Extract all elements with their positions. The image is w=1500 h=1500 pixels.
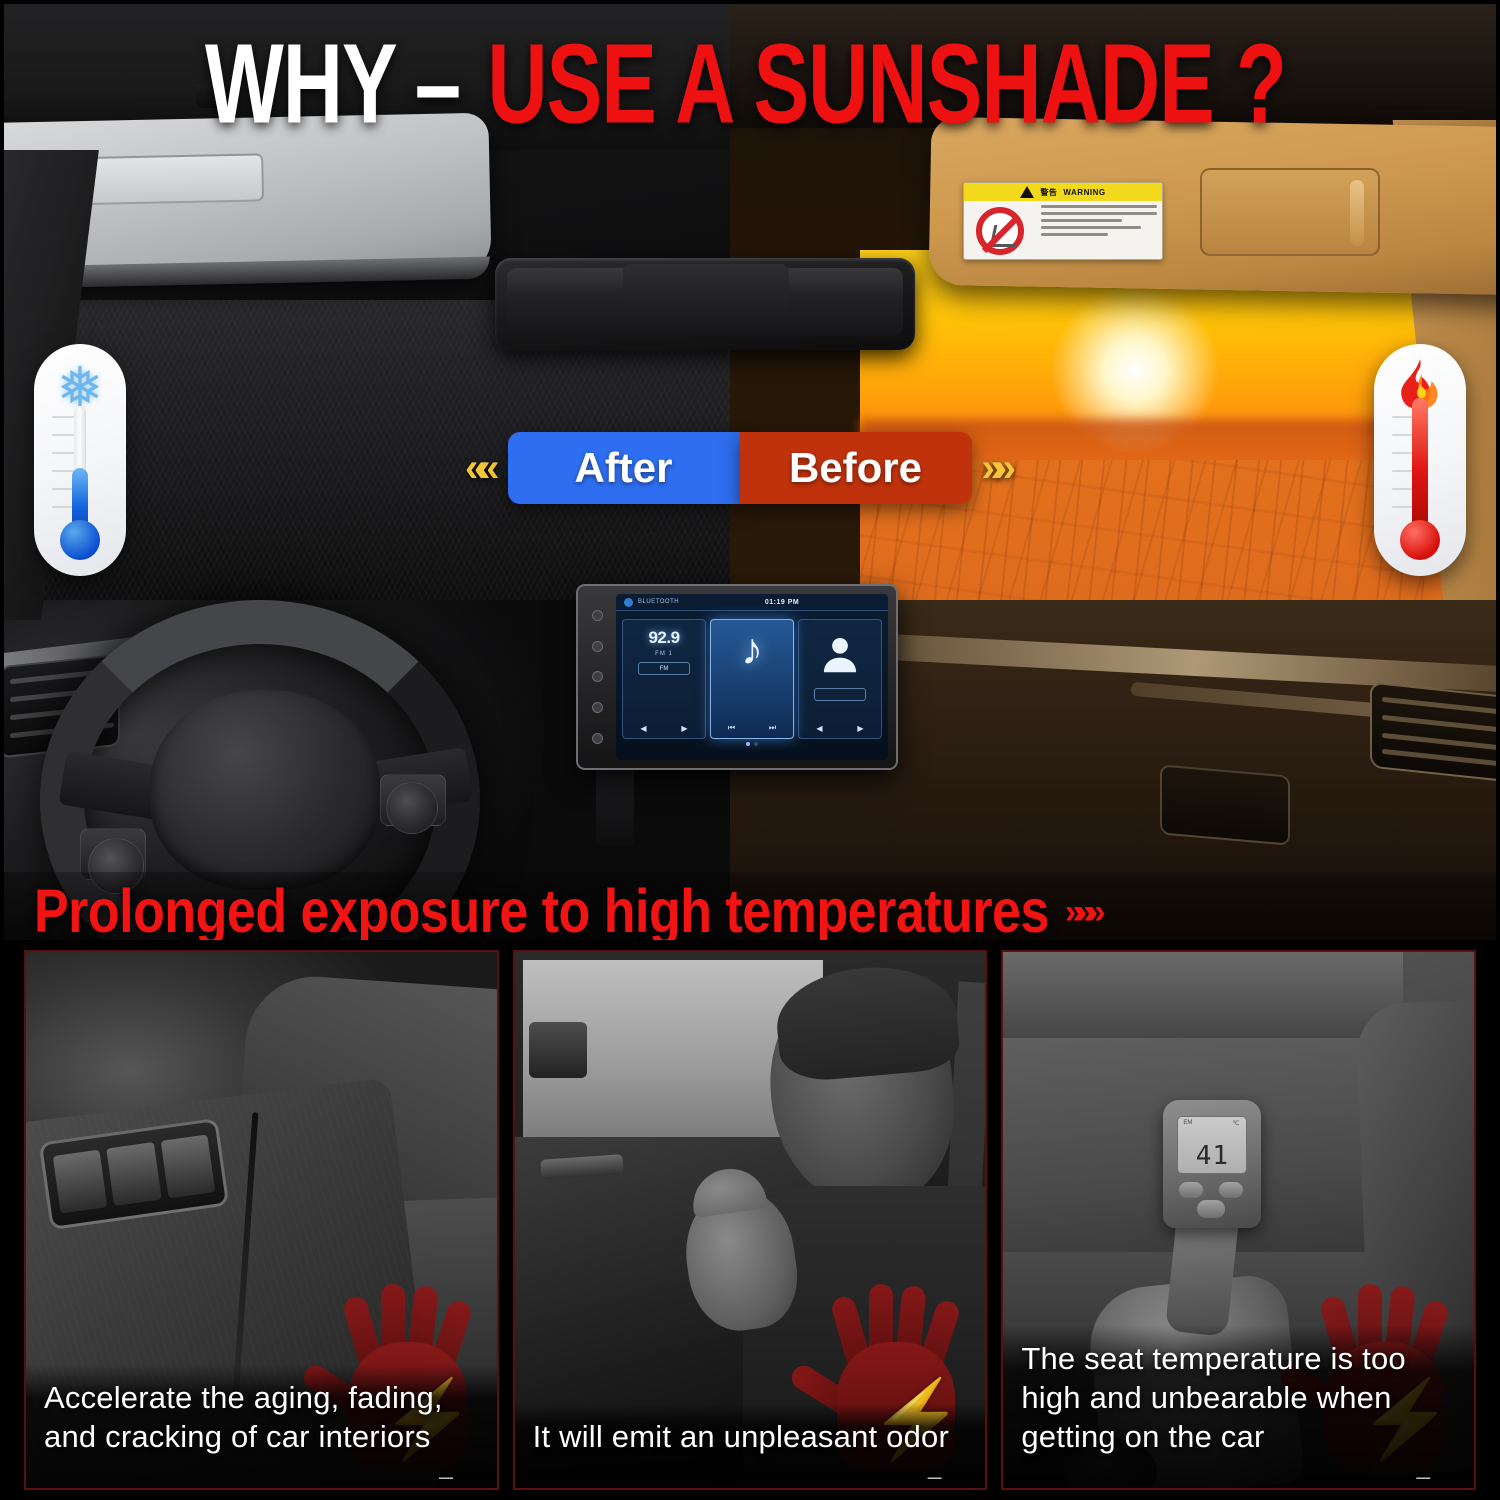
before-after-hero: 警告 WARNING (0, 0, 1500, 940)
side-button-apps[interactable] (592, 702, 603, 713)
person-icon (817, 632, 863, 683)
rearview-mirror (495, 258, 915, 350)
profile-pill[interactable] (814, 688, 866, 701)
seat-temperature-panel: EM ℃ 41 ⚡ (1001, 950, 1476, 1490)
air-vent-right (1370, 682, 1500, 785)
caption-underscore: _ (1021, 1462, 1456, 1472)
visor-warning-label: 警告 WARNING (963, 182, 1163, 260)
thermometer-display-label-right: ℃ (1233, 1120, 1240, 1127)
no-rear-facing-child-seat-icon (964, 201, 1036, 260)
profile-next-icon[interactable]: ▶ (857, 724, 863, 733)
infotainment-head-unit: BLUETOOTH 01:19 PM 92.9 FM 1 FM ◀ ▶ ♪ (576, 584, 898, 770)
radio-card[interactable]: 92.9 FM 1 FM ◀ ▶ (622, 619, 706, 739)
thermometer-fill-hot (1412, 398, 1428, 532)
before-badge[interactable]: Before (740, 432, 972, 504)
left-chevrons-icon: «« (465, 448, 500, 488)
radio-frequency: 92.9 (648, 628, 679, 648)
steering-dpad-right (386, 782, 438, 834)
before-after-divider-badges: «« After Before »» (465, 432, 1014, 504)
thermometer-bulb-hot (1400, 520, 1440, 560)
page-dot[interactable] (754, 742, 758, 746)
side-button-power[interactable] (592, 610, 603, 621)
consequence-panels: ⚡ Accelerate the aging, fading, and crac… (24, 950, 1476, 1490)
interior-aging-caption: Accelerate the aging, fading, and cracki… (44, 1378, 479, 1456)
thermometer-display: EM ℃ 41 (1177, 1116, 1247, 1174)
thermometer-button-mode[interactable] (1179, 1182, 1203, 1198)
side-button-media[interactable] (592, 671, 603, 682)
warning-label-body (964, 201, 1162, 260)
steering-wheel-airbag-hub (150, 690, 380, 890)
air-vent-center-right (1160, 764, 1290, 845)
panel-caption: The seat temperature is too high and unb… (1003, 1325, 1474, 1488)
infotainment-status-bar: BLUETOOTH 01:19 PM (616, 594, 888, 611)
infotainment-side-buttons[interactable] (584, 600, 610, 754)
cold-thermometer: ❅ (34, 344, 126, 576)
interior-aging-panel: ⚡ Accelerate the aging, fading, and crac… (24, 950, 499, 1490)
side-button-settings[interactable] (592, 733, 603, 744)
side-button-home[interactable] (592, 641, 603, 652)
infrared-thermometer: EM ℃ 41 (1163, 1100, 1261, 1228)
panel-caption: It will emit an unpleasant odor _ (515, 1403, 986, 1488)
banner-chevrons-icon: »»» (1065, 893, 1108, 932)
caption-underscore: _ (44, 1462, 479, 1472)
radio-preset-pill[interactable]: FM (638, 662, 690, 675)
thermometer-button-set[interactable] (1197, 1200, 1225, 1218)
infotainment-screen[interactable]: BLUETOOTH 01:19 PM 92.9 FM 1 FM ◀ ▶ ♪ (616, 594, 888, 760)
thermometer-bulb-cold (60, 520, 100, 560)
media-skip-forward-icon[interactable]: ⏭ (769, 723, 776, 733)
media-card[interactable]: ♪ ⏮ ⏭ (710, 619, 794, 739)
unpleasant-odor-panel: ⚡ It will emit an unpleasant odor _ (513, 950, 988, 1490)
consequences-section: ⚡ Accelerate the aging, fading, and crac… (0, 940, 1500, 1500)
prolonged-exposure-text: Prolonged exposure to high temperatures (34, 877, 1049, 940)
headliner-right (730, 0, 1500, 128)
radio-next-icon[interactable]: ▶ (681, 724, 687, 733)
caption-underscore: _ (533, 1462, 968, 1472)
infotainment-source-label: BLUETOOTH (638, 599, 679, 605)
right-chevrons-icon: »» (982, 448, 1015, 488)
prolonged-exposure-banner: Prolonged exposure to high temperatures … (0, 872, 1500, 940)
media-transport-controls[interactable]: ⏮ ⏭ (711, 723, 793, 733)
profile-arrows[interactable]: ◀ ▶ (799, 724, 881, 733)
panel-caption: Accelerate the aging, fading, and cracki… (26, 1364, 497, 1488)
warning-label-text-lines (1036, 201, 1162, 260)
infrared-thermometer-grip (1165, 1211, 1239, 1337)
thermometer-button-unit[interactable] (1219, 1182, 1243, 1198)
profile-prev-icon[interactable]: ◀ (816, 724, 822, 733)
sun-visor-pocket (1200, 168, 1380, 256)
hot-thermometer (1374, 344, 1466, 576)
warning-triangle-icon (1020, 186, 1034, 198)
media-skip-back-icon[interactable]: ⏮ (728, 723, 735, 733)
radio-tune-arrows[interactable]: ◀ ▶ (623, 724, 705, 733)
infotainment-mount (596, 762, 634, 846)
warning-label-header: 警告 WARNING (964, 183, 1162, 201)
warning-heading: WARNING (1063, 188, 1105, 197)
after-badge[interactable]: After (508, 432, 740, 504)
mirror-headrest-reflection (623, 264, 789, 320)
thermometer-reading: 41 (1196, 1143, 1229, 1169)
page-dot-active[interactable] (746, 742, 750, 746)
radio-prev-icon[interactable]: ◀ (640, 724, 646, 733)
profile-card[interactable]: ◀ ▶ (798, 619, 882, 739)
thermometer-display-label-left: EM (1183, 1120, 1192, 1126)
infotainment-page-dots[interactable] (616, 742, 888, 746)
seat-temperature-caption: The seat temperature is too high and unb… (1021, 1339, 1456, 1456)
music-note-icon: ♪ (741, 628, 763, 672)
mirror-mount (196, 84, 230, 108)
side-mirror (529, 1022, 587, 1078)
warning-subheading: 警告 (1040, 187, 1057, 198)
bluetooth-icon (624, 598, 633, 607)
infographic-root: 警告 WARNING (0, 0, 1500, 1500)
infotainment-cards: 92.9 FM 1 FM ◀ ▶ ♪ ⏮ ⏭ (616, 611, 888, 739)
infotainment-clock: 01:19 PM (765, 599, 799, 606)
radio-band: FM 1 (655, 651, 673, 657)
unpleasant-odor-caption: It will emit an unpleasant odor (533, 1417, 968, 1456)
